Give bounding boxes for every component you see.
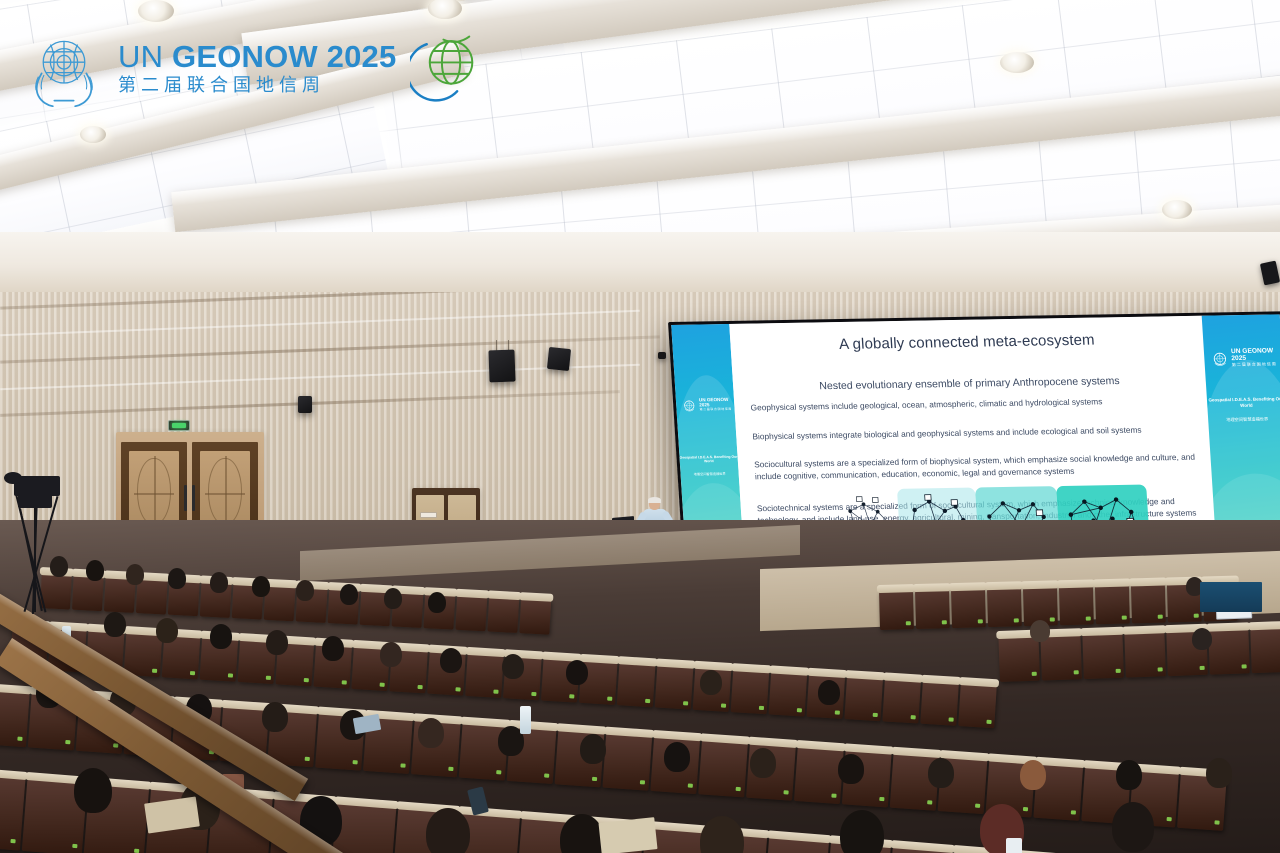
audience-head — [210, 572, 228, 593]
slide-paragraph-biophysical: Biophysical systems integrate biological… — [752, 422, 1195, 442]
audience-head — [126, 564, 144, 585]
audience-head — [340, 584, 358, 605]
wall-loudspeaker-icon — [488, 350, 515, 383]
seat[interactable] — [617, 661, 656, 707]
seat[interactable] — [987, 586, 1022, 627]
event-logo-title: UN GEONOW 2025 — [118, 41, 396, 72]
audience-head — [1030, 620, 1050, 642]
seat[interactable] — [519, 597, 551, 635]
un-emblem-icon — [682, 398, 697, 412]
audience-head — [1206, 758, 1232, 788]
audience-head — [426, 808, 470, 853]
audience-head — [840, 810, 884, 853]
wall-loudspeaker-icon — [547, 347, 571, 371]
audience-head — [418, 718, 444, 748]
brand-panel-tagline-left: Geospatial I.D.E.A.S. Benefiting Our Wor… — [679, 454, 738, 464]
globe-icon — [410, 29, 486, 105]
seat[interactable] — [602, 732, 652, 791]
audience-head — [322, 636, 344, 661]
event-logo: UN GEONOW 2025 第二届联合国地信周 — [24, 26, 486, 108]
tripod-camera-icon — [8, 494, 78, 644]
audience-head — [750, 748, 776, 778]
brand-panel-tagline-right: Geospatial I.D.E.A.S. Benefiting Our Wor… — [1207, 397, 1280, 410]
audience-head — [168, 568, 186, 589]
seat[interactable] — [794, 745, 844, 804]
audience-head — [266, 630, 288, 655]
seat[interactable] — [764, 835, 830, 853]
audience-head — [502, 654, 524, 679]
audience-head — [664, 742, 690, 772]
seat[interactable] — [487, 595, 519, 633]
event-logo-text: UN GEONOW 2025 第二届联合国地信周 — [118, 41, 396, 94]
audience-head — [380, 642, 402, 667]
seat[interactable] — [998, 635, 1040, 682]
brand-panel-tagline-cn-right: 地理空间智慧造福世界 — [1208, 416, 1280, 423]
event-logo-rest: GEONOW 2025 — [163, 39, 396, 74]
seat[interactable] — [0, 688, 30, 747]
seat[interactable] — [1208, 627, 1250, 674]
audience-head — [440, 648, 462, 673]
audience-head — [210, 624, 232, 649]
audience-head — [838, 754, 864, 784]
seat[interactable] — [698, 738, 748, 797]
water-bottle — [1006, 838, 1022, 853]
brand-panel-title-cn-right: 第二届联合国地信周 — [1232, 362, 1280, 367]
front-desk — [1200, 582, 1262, 612]
audience-head — [1116, 760, 1142, 790]
seat[interactable] — [769, 670, 808, 716]
ceiling-downlight-icon — [1162, 200, 1192, 219]
audience-head — [156, 618, 178, 643]
seat[interactable] — [958, 682, 997, 728]
seat[interactable] — [920, 680, 959, 726]
seat[interactable] — [1131, 583, 1166, 624]
audience-head — [566, 660, 588, 685]
seat[interactable] — [731, 668, 770, 714]
seat[interactable] — [882, 677, 921, 723]
slide-paragraph-sociocultural: Sociocultural systems are a specialized … — [754, 451, 1198, 483]
event-logo-un: UN — [118, 39, 163, 74]
seat[interactable] — [465, 652, 504, 698]
slide-subtitle: Nested evolutionary ensemble of primary … — [733, 374, 1206, 394]
wall-loudspeaker-icon — [298, 396, 312, 413]
seat[interactable] — [879, 589, 914, 630]
notebook — [598, 817, 657, 853]
seat[interactable] — [1095, 583, 1130, 624]
audience-head — [252, 576, 270, 597]
slide-title: A globally connected meta-ecosystem — [730, 330, 1203, 355]
un-emblem-icon — [24, 27, 104, 107]
auditorium-photo: UN GEONOW 2025 第二届联合国地信周 Geospatial I.D.… — [0, 0, 1280, 853]
seat[interactable] — [455, 594, 487, 632]
event-logo-title-cn: 第二届联合国地信周 — [118, 76, 396, 94]
seat[interactable] — [844, 675, 883, 721]
audience-head — [104, 612, 126, 637]
ceiling-downlight-icon — [138, 0, 174, 22]
audience-head — [262, 702, 288, 732]
ceiling-downlight-icon — [1000, 52, 1034, 73]
seat[interactable] — [1082, 632, 1124, 679]
un-emblem-icon — [1211, 350, 1229, 367]
audience-head — [580, 734, 606, 764]
slide-paragraph-geophysical: Geophysical systems include geological, … — [750, 394, 1193, 414]
audience-head — [1020, 760, 1046, 790]
seat[interactable] — [915, 588, 950, 629]
seat[interactable] — [1124, 630, 1166, 677]
seat[interactable] — [887, 845, 953, 853]
exit-sign-icon — [168, 420, 190, 431]
audience-head — [384, 588, 402, 609]
audience-head — [428, 592, 446, 613]
water-bottle — [520, 706, 531, 734]
audience-head — [818, 680, 840, 705]
audience-head — [928, 758, 954, 788]
seat[interactable] — [1250, 626, 1280, 673]
audience-seating — [0, 520, 1280, 853]
audience-head — [1112, 802, 1154, 852]
seat[interactable] — [1059, 584, 1094, 625]
audience-head — [296, 580, 314, 601]
seat[interactable] — [951, 587, 986, 628]
seat[interactable] — [655, 664, 694, 710]
audience-head — [700, 670, 722, 695]
seat[interactable] — [1040, 633, 1082, 680]
door-sign — [420, 512, 437, 518]
audience-head — [1192, 628, 1212, 650]
stage-light-icon — [658, 352, 666, 359]
audience-head — [74, 768, 112, 813]
ceiling-downlight-icon — [80, 126, 106, 143]
ceiling-soffit — [0, 232, 1280, 292]
brand-panel-title-cn-left: 第二届联合国地信周 — [699, 408, 734, 412]
